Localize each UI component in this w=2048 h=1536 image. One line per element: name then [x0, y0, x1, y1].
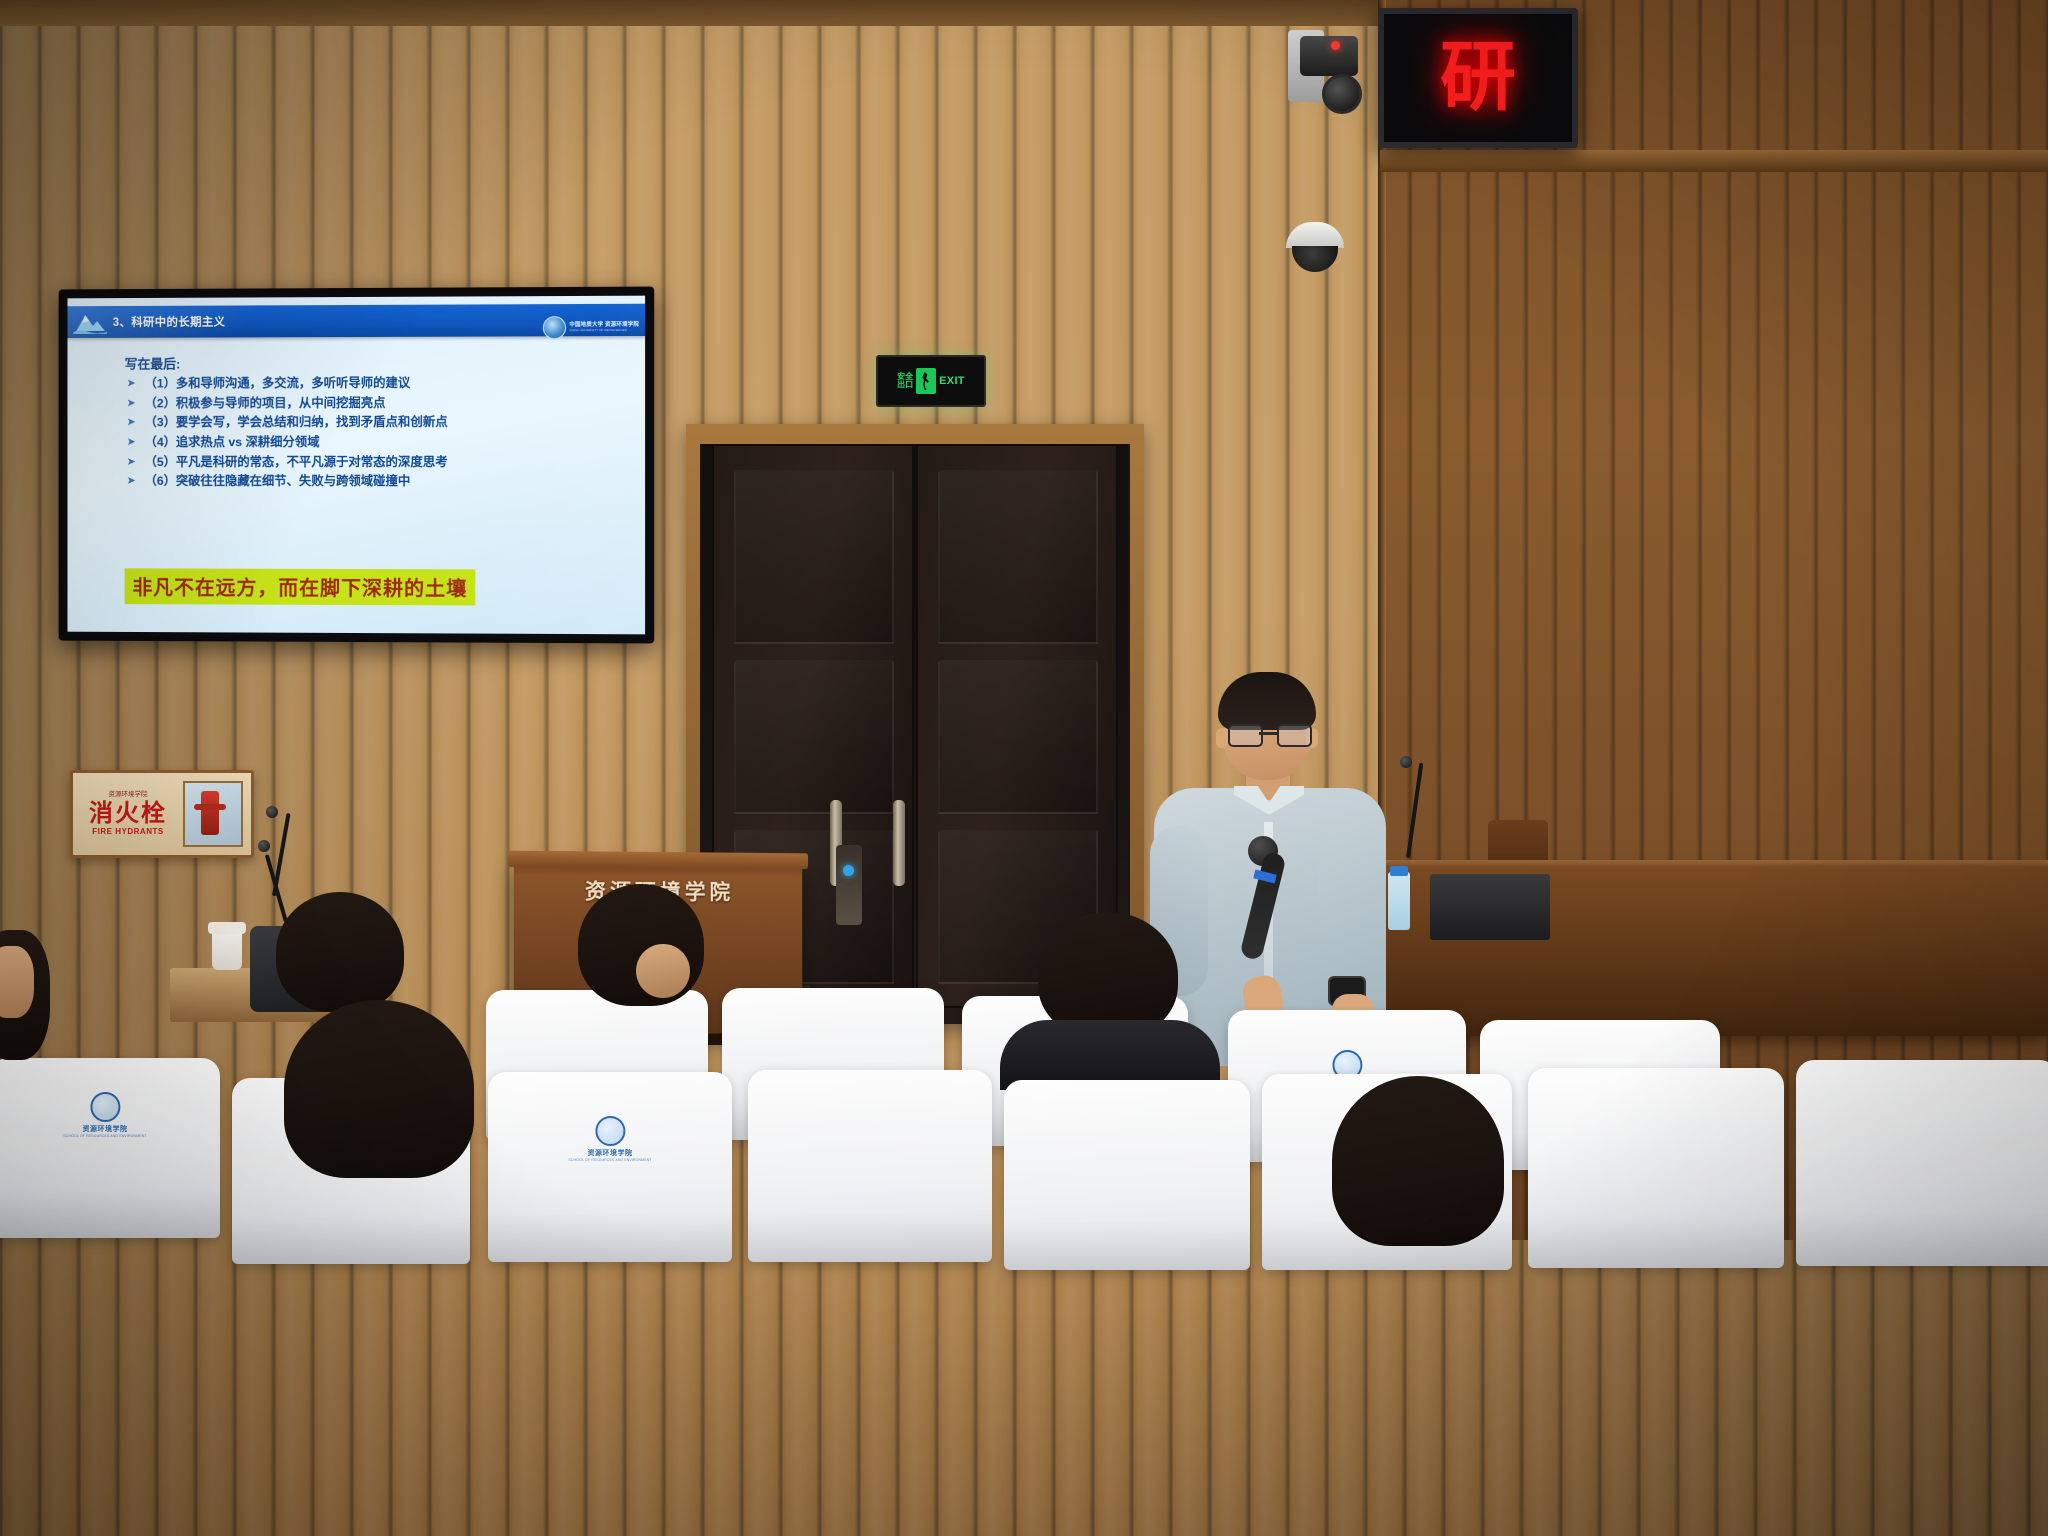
exit-sign-english: EXIT — [939, 375, 965, 387]
slide-header: 3、科研中的长期主义 中国地质大学 资源环境学院 CHINA UNIVERSIT… — [67, 304, 645, 338]
slide-highlight-banner: 非凡不在远方，而在脚下深耕的土壤 — [125, 568, 476, 605]
arrow-icon: ➤ — [127, 455, 136, 469]
seat-logo-en: SCHOOL OF RESOURCES AND ENVIRONMENT — [568, 1158, 651, 1162]
door-handle-right[interactable] — [893, 800, 905, 886]
door-panel — [938, 660, 1098, 814]
right-wall-trim — [1380, 150, 2048, 172]
bullet-text: （2）积极参与导师的项目，从中间挖掘亮点 — [145, 396, 386, 411]
microphone-head-icon — [266, 806, 278, 818]
arrow-icon: ➤ — [127, 377, 136, 391]
banner-text: 非凡不在远方，而在脚下深耕的土壤 — [133, 575, 468, 600]
mountain-icon — [73, 310, 106, 334]
fire-hydrant-label: 资源环境学院 消火栓 FIRE HYDRANTS — [73, 792, 183, 836]
lectern-top — [508, 851, 808, 870]
hydrant-cn-text: 消火栓 — [89, 802, 167, 826]
slide-canvas: 3、科研中的长期主义 中国地质大学 资源环境学院 CHINA UNIVERSIT… — [67, 296, 645, 635]
lecture-hall-scene: 3、科研中的长期主义 中国地质大学 资源环境学院 CHINA UNIVERSIT… — [0, 0, 2048, 1536]
list-item[interactable] — [1528, 1068, 1784, 1268]
hydrant-window — [183, 781, 243, 847]
paper-cup — [212, 928, 242, 970]
bullet-text: （3）要学会写，学会总结和归纳，找到矛盾点和创新点 — [145, 415, 448, 430]
led-character: 研 — [1440, 40, 1516, 116]
list-item[interactable] — [748, 1070, 992, 1262]
bullet-text: （5）平凡是科研的常态，不平凡源于对常态的深度思考 — [145, 454, 448, 469]
arrow-icon: ➤ — [127, 435, 136, 449]
door-panel — [734, 660, 894, 814]
university-logo: 中国地质大学 资源环境学院 CHINA UNIVERSITY OF GEOSCI… — [543, 316, 639, 340]
slide-title: 3、科研中的长期主义 — [113, 314, 226, 330]
slide-body: 写在最后: ➤ （1）多和导师沟通，多交流，多听听导师的建议 ➤ （2）积极参与… — [67, 344, 645, 494]
glasses-bridge — [1259, 732, 1277, 735]
hydrant-org-text: 资源环境学院 — [109, 792, 148, 799]
audience-head — [1332, 1076, 1504, 1246]
seat-seal-icon — [595, 1116, 625, 1146]
list-item: ➤ （6）突破往往隐藏在细节、失败与跨领域碰撞中 — [127, 474, 645, 489]
hydrant-valve-icon — [201, 791, 219, 835]
door-panel — [938, 470, 1098, 644]
glasses-icon — [1228, 724, 1308, 744]
microphone-head-icon — [258, 840, 270, 852]
arrow-icon: ➤ — [127, 396, 136, 410]
seat-logo: 资源环境学院 SCHOOL OF RESOURCES AND ENVIRONME… — [568, 1116, 651, 1162]
audience-face — [0, 946, 34, 1018]
led-display-sign: 研 — [1378, 8, 1578, 148]
presenter-hair — [1218, 672, 1316, 730]
list-item[interactable] — [1796, 1060, 2048, 1266]
emergency-exit-sign: 安全 出口 EXIT — [876, 355, 986, 407]
presenter-ear — [1216, 728, 1228, 748]
camera-lens-icon — [1322, 74, 1362, 114]
seat-logo-cn: 资源环境学院 — [588, 1148, 633, 1158]
laptop-device — [1430, 874, 1550, 940]
list-item: ➤ （1）多和导师沟通，多交流，多听听导师的建议 — [127, 375, 645, 391]
seat-logo-cn: 资源环境学院 — [83, 1124, 128, 1134]
fire-hydrant-cabinet: 资源环境学院 消火栓 FIRE HYDRANTS — [70, 770, 254, 858]
lock-indicator-icon — [843, 865, 854, 876]
cup-lid — [208, 922, 246, 934]
seat-logo: 资源环境学院 SCHOOL OF RESOURCES AND ENVIRONME… — [63, 1092, 146, 1138]
arrow-icon: ➤ — [127, 416, 136, 430]
list-item: ➤ （2）积极参与导师的项目，从中间挖掘亮点 — [127, 395, 645, 411]
bullet-text: （6）突破往往隐藏在细节、失败与跨领域碰撞中 — [145, 474, 411, 489]
arrow-icon: ➤ — [127, 474, 136, 488]
list-item[interactable]: 资源环境学院 SCHOOL OF RESOURCES AND ENVIRONME… — [488, 1072, 732, 1262]
list-item[interactable] — [1004, 1080, 1250, 1270]
list-item: ➤ （3）要学会写，学会总结和归纳，找到矛盾点和创新点 — [127, 415, 645, 430]
bullet-text: （1）多和导师沟通，多交流，多听听导师的建议 — [145, 376, 411, 391]
list-item[interactable]: 资源环境学院 SCHOOL OF RESOURCES AND ENVIRONME… — [0, 1058, 220, 1238]
recording-led-icon — [1331, 41, 1340, 50]
slide-bullet-list: ➤ （1）多和导师沟通，多交流，多听听导师的建议 ➤ （2）积极参与导师的项目，… — [67, 375, 645, 489]
ceiling-camera-icon — [1300, 36, 1358, 76]
glasses-lens-right — [1277, 724, 1312, 747]
seat-logo-en: SCHOOL OF RESOURCES AND ENVIRONMENT — [63, 1134, 146, 1138]
seat-seal-icon — [90, 1092, 120, 1122]
university-seal-icon — [543, 316, 566, 339]
slide-lead-in: 写在最后: — [125, 352, 645, 372]
audience-head — [276, 892, 404, 1012]
presentation-screen[interactable]: 3、科研中的长期主义 中国地质大学 资源环境学院 CHINA UNIVERSIT… — [59, 287, 655, 644]
list-item: ➤ （5）平凡是科研的常态，不平凡源于对常态的深度思考 — [127, 454, 645, 469]
bullet-text: （4）追求热点 vs 深耕细分领域 — [145, 435, 320, 450]
audience-face — [636, 944, 690, 998]
exit-cn-line2: 出口 — [897, 381, 913, 389]
running-man-icon — [916, 368, 936, 394]
logo-en-text: CHINA UNIVERSITY OF GEOSCIENCES — [569, 329, 639, 332]
exit-sign-chinese: 安全 出口 — [897, 373, 913, 389]
list-item: ➤ （4）追求热点 vs 深耕细分领域 — [127, 435, 645, 450]
door-lock-plate[interactable] — [836, 845, 862, 925]
door-panel — [734, 470, 894, 644]
glasses-lens-left — [1228, 724, 1263, 747]
audience-head — [284, 1000, 474, 1178]
hydrant-en-text: FIRE HYDRANTS — [92, 828, 163, 836]
